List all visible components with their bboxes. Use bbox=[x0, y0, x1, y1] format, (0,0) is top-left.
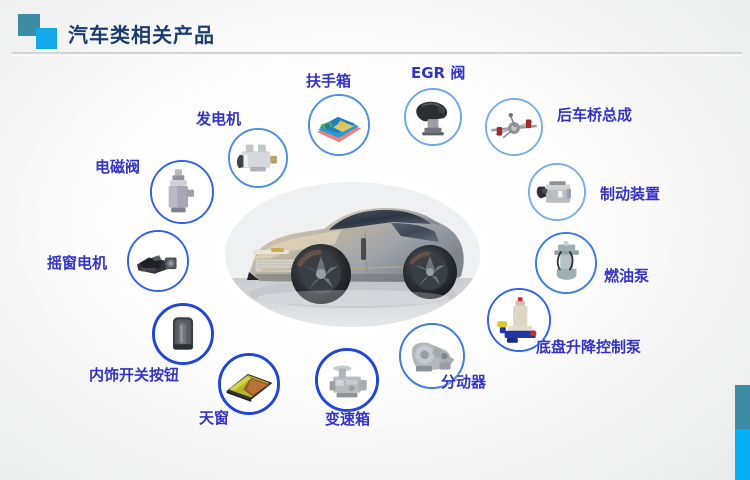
product-circle-interior-switch-button[interactable] bbox=[152, 303, 214, 365]
product-label-transfer-case: 分动器 bbox=[441, 371, 486, 392]
product-circle-generator[interactable] bbox=[228, 128, 288, 188]
product-label-window-motor: 摇窗电机 bbox=[47, 252, 107, 273]
product-thumb-solenoid-valve bbox=[152, 162, 212, 222]
product-label-interior-switch-button: 内饰开关按钮 bbox=[89, 364, 179, 385]
slide-canvas: 汽车类相关产品 bbox=[0, 0, 750, 480]
product-thumb-generator bbox=[230, 130, 286, 186]
corner-accent-bar bbox=[735, 385, 750, 480]
product-circle-window-motor[interactable] bbox=[127, 230, 189, 292]
header-divider bbox=[12, 52, 742, 55]
slide-header: 汽车类相关产品 bbox=[0, 0, 750, 58]
product-label-armrest-box: 扶手箱 bbox=[306, 70, 351, 91]
product-label-generator: 发电机 bbox=[196, 108, 241, 129]
product-circle-egr-valve[interactable] bbox=[404, 88, 462, 146]
product-thumb-armrest-box bbox=[310, 96, 368, 154]
product-circle-fuel-pump[interactable] bbox=[535, 232, 597, 294]
product-circle-solenoid-valve[interactable] bbox=[150, 160, 214, 224]
product-label-brake-device: 制动装置 bbox=[600, 183, 660, 204]
product-label-gearbox: 变速箱 bbox=[325, 408, 370, 429]
product-thumb-egr-valve bbox=[406, 90, 460, 144]
page-title: 汽车类相关产品 bbox=[68, 19, 215, 48]
product-circle-armrest-box[interactable] bbox=[308, 94, 370, 156]
product-circle-brake-device[interactable] bbox=[528, 163, 586, 221]
header-marker-cyan-square bbox=[36, 28, 57, 49]
product-thumb-gearbox bbox=[318, 351, 376, 409]
product-thumb-window-motor bbox=[129, 232, 187, 290]
center-car-image bbox=[225, 182, 480, 327]
product-label-solenoid-valve: 电磁阀 bbox=[95, 156, 140, 177]
product-circle-gearbox[interactable] bbox=[315, 348, 379, 412]
product-thumb-rear-axle-assembly bbox=[487, 100, 541, 154]
product-label-sunroof: 天窗 bbox=[199, 407, 229, 428]
product-label-rear-axle-assembly: 后车桥总成 bbox=[557, 104, 632, 125]
product-thumb-interior-switch-button bbox=[155, 306, 211, 362]
product-circle-rear-axle-assembly[interactable] bbox=[485, 98, 543, 156]
corner-accent-top bbox=[735, 385, 750, 429]
product-label-fuel-pump: 燃油泵 bbox=[604, 265, 649, 286]
product-circle-sunroof[interactable] bbox=[218, 353, 280, 415]
product-thumb-sunroof bbox=[221, 356, 277, 412]
product-label-chassis-lift-pump: 底盘升降控制泵 bbox=[536, 336, 641, 357]
product-thumb-brake-device bbox=[530, 165, 584, 219]
product-label-egr-valve: EGR 阀 bbox=[411, 62, 465, 83]
corner-accent-bottom bbox=[735, 429, 750, 480]
product-thumb-fuel-pump bbox=[537, 234, 595, 292]
